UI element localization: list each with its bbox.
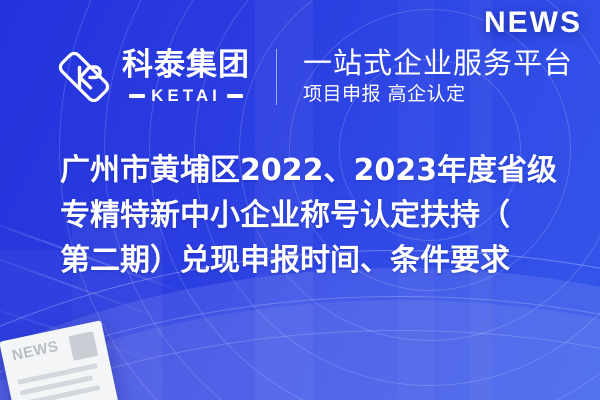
brand-wordmark: 科泰集团 KETAI (122, 50, 250, 104)
dash-right-decoration (227, 94, 243, 98)
image-placeholder-icon (69, 331, 99, 361)
dash-left-decoration (129, 94, 145, 98)
page-title-line-2: 专精特新中小企业称号认定扶持（ (60, 193, 560, 238)
vertical-divider (276, 49, 277, 105)
newspaper-headline: NEWS (11, 339, 60, 363)
ketai-monogram-icon (58, 51, 110, 103)
brand-name-cn: 科泰集团 (122, 50, 250, 81)
tagline-main: 一站式企业服务平台 (303, 47, 573, 79)
newspaper-illustration: NEWS (0, 320, 121, 400)
news-banner: 科泰集团 KETAI 一站式企业服务平台 项目申报 高企认定 NEWS 广州市黄… (0, 0, 600, 400)
banner-header: 科泰集团 KETAI 一站式企业服务平台 项目申报 高企认定 (0, 34, 600, 120)
tagline-group: 一站式企业服务平台 项目申报 高企认定 (303, 47, 573, 107)
page-title: 广州市黄埔区2022、2023年度省级 专精特新中小企业称号认定扶持（ 第二期）… (60, 148, 560, 283)
brand-name-en: KETAI (151, 87, 221, 104)
page-title-line-3: 第二期）兑现申报时间、条件要求 (60, 238, 560, 283)
page-title-line-1: 广州市黄埔区2022、2023年度省级 (60, 148, 560, 193)
tagline-sub: 项目申报 高企认定 (303, 83, 573, 107)
brand-name-en-row: KETAI (122, 87, 250, 104)
news-badge: NEWS (484, 6, 582, 40)
brand-logo[interactable]: 科泰集团 KETAI (58, 50, 250, 104)
